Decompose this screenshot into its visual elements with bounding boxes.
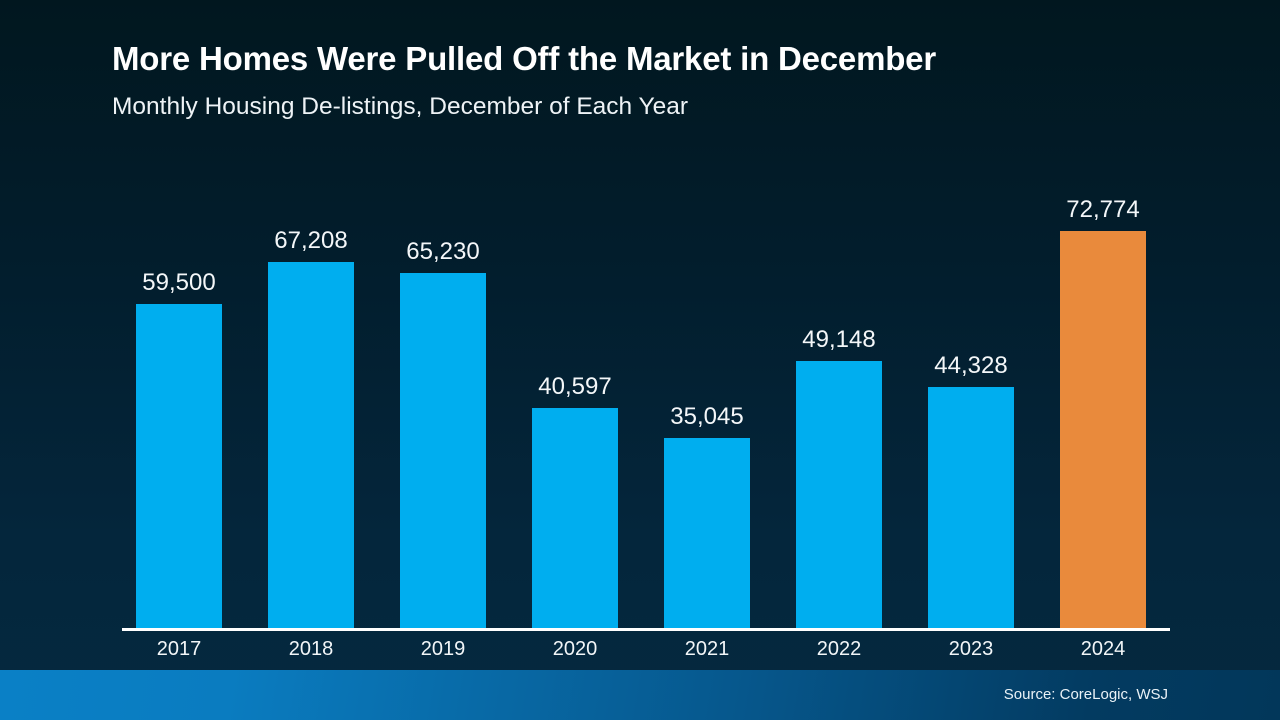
bar-group: 35,045 <box>664 438 750 630</box>
bar-value-label: 49,148 <box>802 328 875 352</box>
bar-group: 40,597 <box>532 408 618 630</box>
bar-group: 59,500 <box>136 304 222 630</box>
bar-2023: 44,328 <box>928 387 1014 630</box>
bar-group: 72,774 <box>1060 231 1146 630</box>
bar-2020: 40,597 <box>532 408 618 630</box>
axis-tick-2017: 2017 <box>136 637 222 661</box>
chart-subtitle: Monthly Housing De-listings, December of… <box>112 92 1172 121</box>
x-axis-line <box>122 628 1170 631</box>
axis-tick-2020: 2020 <box>532 637 618 661</box>
axis-tick-2019: 2019 <box>400 637 486 661</box>
chart-header: More Homes Were Pulled Off the Market in… <box>112 40 1172 121</box>
bar-value-label: 65,230 <box>406 240 479 264</box>
bar-series: 59,50067,20865,23040,59735,04549,14844,3… <box>122 170 1170 630</box>
bar-group: 65,230 <box>400 273 486 630</box>
bar-value-label: 59,500 <box>142 271 215 295</box>
bar-2018: 67,208 <box>268 262 354 630</box>
bar-2024: 72,774 <box>1060 231 1146 630</box>
bar-value-label: 35,045 <box>670 405 743 429</box>
bar-2021: 35,045 <box>664 438 750 630</box>
axis-tick-2022: 2022 <box>796 637 882 661</box>
bar-2022: 49,148 <box>796 361 882 630</box>
x-axis-tick-labels: 20172018201920202021202220232024 <box>122 637 1170 667</box>
page-title: More Homes Were Pulled Off the Market in… <box>112 40 1172 79</box>
bar-value-label: 40,597 <box>538 375 611 399</box>
source-label: Source: CoreLogic, WSJ <box>1004 686 1168 704</box>
axis-tick-2023: 2023 <box>928 637 1014 661</box>
bar-2017: 59,500 <box>136 304 222 630</box>
bar-group: 67,208 <box>268 262 354 630</box>
axis-tick-2024: 2024 <box>1060 637 1146 661</box>
axis-tick-2021: 2021 <box>664 637 750 661</box>
plot-area: 59,50067,20865,23040,59735,04549,14844,3… <box>122 170 1170 630</box>
bar-value-label: 44,328 <box>934 354 1007 378</box>
bar-2019: 65,230 <box>400 273 486 630</box>
bar-value-label: 72,774 <box>1066 198 1139 222</box>
bar-group: 49,148 <box>796 361 882 630</box>
footer-bar: Source: CoreLogic, WSJ <box>0 670 1280 720</box>
bar-value-label: 67,208 <box>274 229 347 253</box>
chart-slide: More Homes Were Pulled Off the Market in… <box>0 0 1280 720</box>
axis-tick-2018: 2018 <box>268 637 354 661</box>
bar-group: 44,328 <box>928 387 1014 630</box>
